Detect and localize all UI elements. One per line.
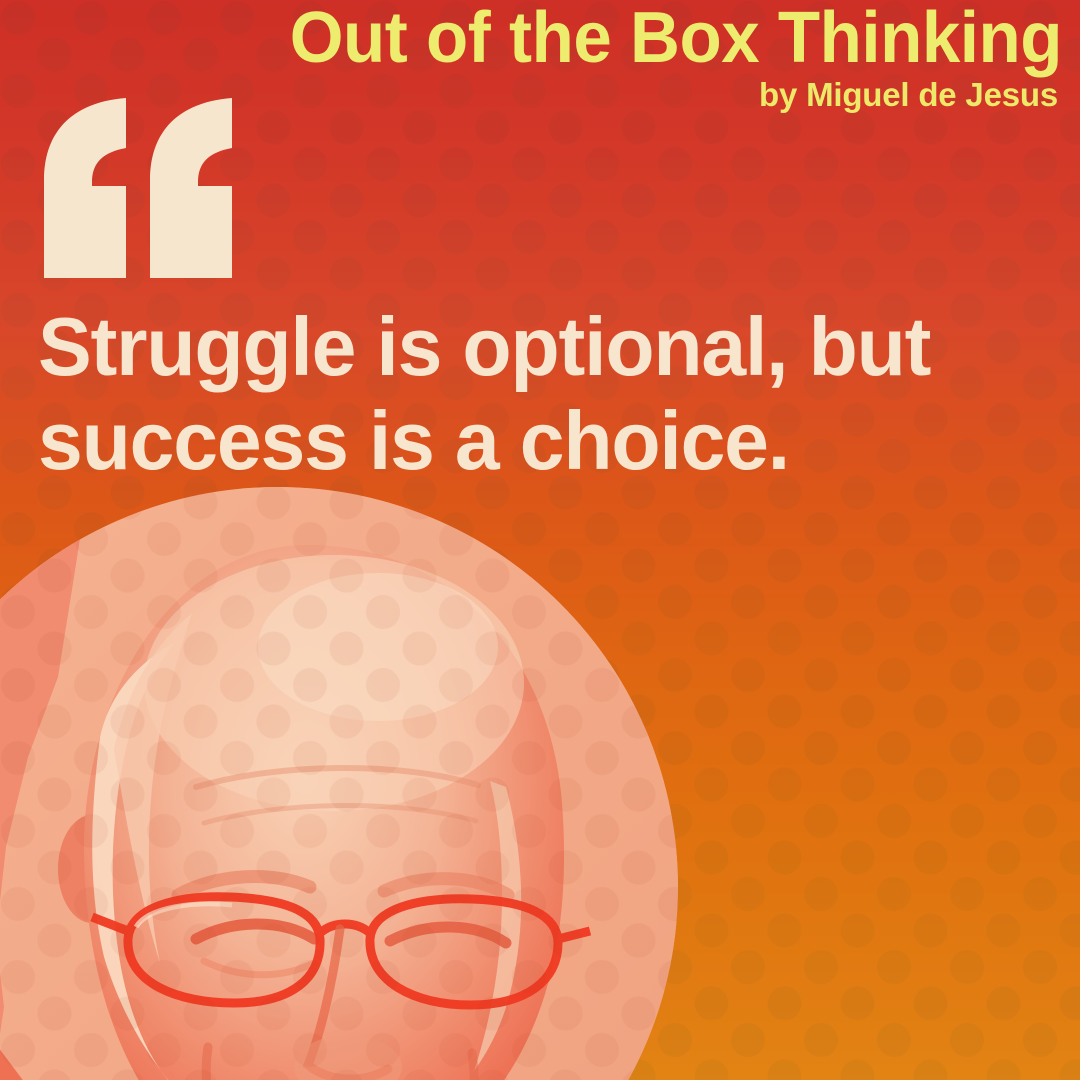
author-portrait [0,487,678,1080]
quote-line-2: success is a choice. [38,394,969,488]
author-portrait-image [0,487,678,1080]
quote-open-icon [42,96,242,286]
quote-card: Out of the Box Thinking by Miguel de Jes… [0,0,1080,1080]
header: Out of the Box Thinking by Miguel de Jes… [0,0,1062,111]
quote-line-1: Struggle is optional, but [38,300,969,394]
page-title: Out of the Box Thinking [42,0,1062,74]
quote-text: Struggle is optional, but success is a c… [38,300,969,488]
